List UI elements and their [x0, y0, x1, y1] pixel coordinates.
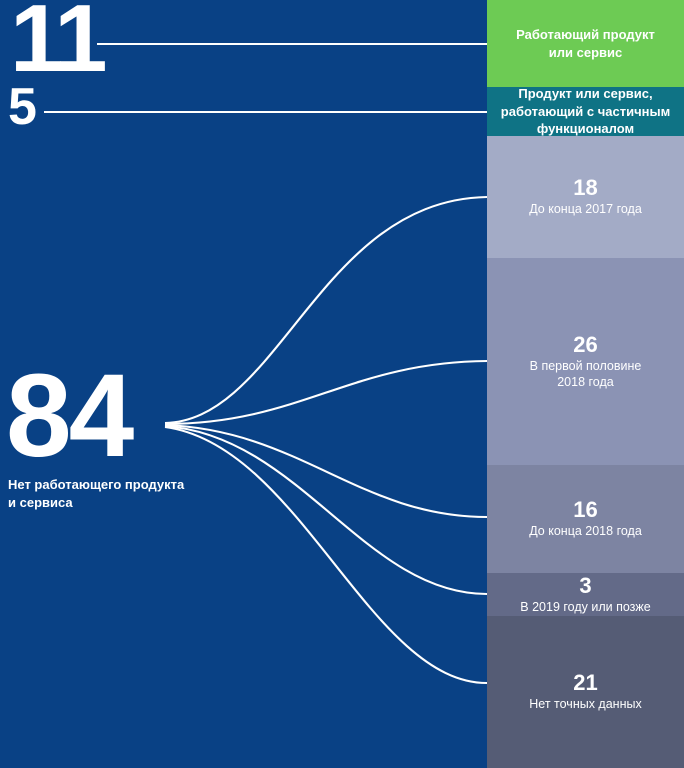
block-label-by-end-2018: До конца 2018 года [529, 523, 642, 539]
block-in-2019-or-later[interactable]: 3 В 2019 году или позже [487, 573, 684, 616]
block-label-by-end-2017: До конца 2017 года [529, 201, 642, 217]
connector-curve-2019 [165, 426, 487, 594]
category-column: Работающий продуктили сервис Продукт или… [487, 0, 684, 768]
block-label-working-product: Работающий продуктили сервис [516, 26, 655, 61]
connector-curve-2018 [165, 425, 487, 517]
block-label-first-half-2018: В первой половине2018 года [530, 358, 642, 391]
block-label-partial-product: Продукт или сервис,работающий с частичны… [501, 85, 670, 138]
block-partial-product[interactable]: Продукт или сервис,работающий с частичны… [487, 87, 684, 136]
connector-curve-2018h [165, 361, 487, 424]
block-value-by-end-2018: 16 [573, 498, 597, 522]
block-value-no-exact-data: 21 [573, 671, 597, 695]
block-working-product[interactable]: Работающий продуктили сервис [487, 0, 684, 87]
block-first-half-2018[interactable]: 26 В первой половине2018 года [487, 258, 684, 465]
block-value-in-2019-or-later: 3 [579, 574, 591, 598]
connector-curve-nodata [165, 427, 487, 683]
infographic-canvas: 11 5 84 Нет работающего продукта и серви… [0, 0, 684, 768]
block-value-first-half-2018: 26 [573, 333, 597, 357]
block-label-no-exact-data: Нет точных данных [529, 696, 641, 712]
block-label-in-2019-or-later: В 2019 году или позже [520, 599, 650, 615]
block-by-end-2017[interactable]: 18 До конца 2017 года [487, 136, 684, 258]
block-no-exact-data[interactable]: 21 Нет точных данных [487, 616, 684, 768]
connector-curve-2017 [165, 197, 487, 423]
block-by-end-2018[interactable]: 16 До конца 2018 года [487, 465, 684, 573]
block-value-by-end-2017: 18 [573, 176, 597, 200]
